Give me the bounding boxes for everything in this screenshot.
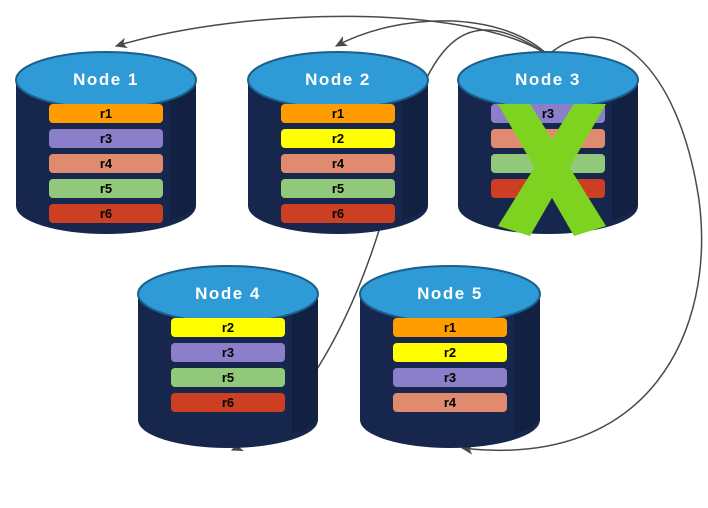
replication-arrow	[336, 21, 548, 55]
replica-bar[interactable]: r2	[393, 343, 507, 362]
replica-bar[interactable]: r4	[49, 154, 163, 173]
node-label: Node 5	[360, 284, 540, 304]
replica-list: r1r3r4r5r6	[16, 104, 196, 223]
replica-list: r1r2r4r5r6	[248, 104, 428, 223]
database-node-2[interactable]: Node 2r1r2r4r5r6	[248, 52, 428, 234]
replica-bar[interactable]: r6	[171, 393, 285, 412]
node-label: Node 4	[138, 284, 318, 304]
replica-bar[interactable]: r2	[171, 318, 285, 337]
replica-bar[interactable]: r2	[281, 129, 395, 148]
node-label: Node 2	[248, 70, 428, 90]
replica-bar[interactable]: r3	[393, 368, 507, 387]
replica-list: r1r2r3r4	[360, 318, 540, 412]
database-node-5[interactable]: Node 5r1r2r3r4	[360, 266, 540, 448]
node-label: Node 3	[458, 70, 638, 90]
replica-bar[interactable]: r1	[281, 104, 395, 123]
replica-bar[interactable]: r1	[49, 104, 163, 123]
database-node-4[interactable]: Node 4r2r3r5r6	[138, 266, 318, 448]
node-label: Node 1	[16, 70, 196, 90]
replica-bar[interactable]: r1	[393, 318, 507, 337]
replica-bar[interactable]: r3	[171, 343, 285, 362]
replica-list: r2r3r5r6	[138, 318, 318, 412]
replica-bar[interactable]: r3	[49, 129, 163, 148]
replica-bar[interactable]: r6	[281, 204, 395, 223]
replica-bar[interactable]: r5	[281, 179, 395, 198]
replica-bar[interactable]: r5	[49, 179, 163, 198]
database-node-1[interactable]: Node 1r1r3r4r5r6	[16, 52, 196, 234]
database-node-3[interactable]: Node 3r3	[458, 52, 638, 234]
node-failure-x-icon	[492, 104, 612, 236]
replica-bar[interactable]: r4	[281, 154, 395, 173]
replica-bar[interactable]: r5	[171, 368, 285, 387]
replication-arrow	[116, 16, 548, 55]
diagram-canvas: Node 1r1r3r4r5r6Node 2r1r2r4r5r6Node 3r3…	[0, 0, 708, 508]
replica-bar[interactable]: r4	[393, 393, 507, 412]
replica-bar[interactable]: r6	[49, 204, 163, 223]
